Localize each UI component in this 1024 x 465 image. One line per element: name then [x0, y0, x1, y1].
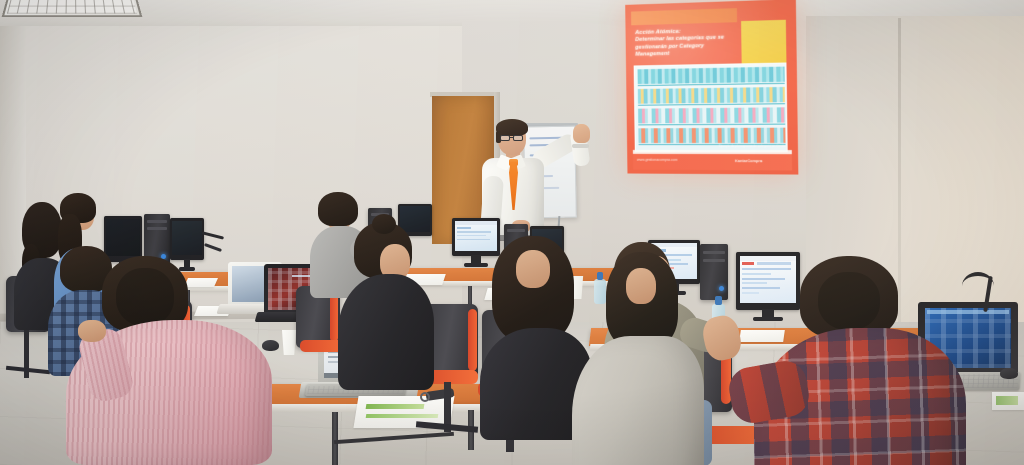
- slide-yellow-block: [741, 20, 786, 64]
- slide-title-text: Acción Atómica: Determinar las categoría…: [635, 27, 738, 63]
- tower-right-1: [700, 244, 728, 300]
- handout-green-graphic: [996, 396, 1018, 405]
- grey-jacket-on-chair: [572, 336, 704, 465]
- slide-planogram-photo: [634, 62, 788, 152]
- head-back: [116, 268, 174, 326]
- head: [516, 250, 550, 288]
- slide-footer-url: www.gestionacompra.com: [637, 158, 678, 162]
- handout-green-bar: [366, 404, 425, 409]
- computer-mouse: [1000, 368, 1018, 379]
- monitor-right-browser: [736, 252, 800, 310]
- head: [626, 268, 656, 304]
- keyring: [420, 392, 430, 402]
- handout-paper: [184, 278, 218, 287]
- eyeglasses-lens-right: [513, 135, 523, 141]
- eyeglasses-icon: [500, 135, 510, 141]
- computer-mouse: [262, 340, 279, 351]
- slide-footer-brand: KantarCompra: [735, 158, 762, 163]
- ceiling-light-panel: [2, 0, 143, 17]
- hair-top-knot: [372, 214, 396, 234]
- hand: [78, 320, 106, 342]
- desk-leg: [332, 412, 338, 465]
- monitor-back-left-1: [104, 216, 142, 262]
- wall-corner-line: [898, 18, 901, 348]
- eyeglasses-bridge: [510, 137, 514, 138]
- handout-green-bar: [366, 414, 439, 418]
- instructor-raised-hand: [573, 124, 590, 143]
- hair: [318, 192, 358, 226]
- head-back: [818, 272, 880, 330]
- torso-black: [338, 274, 434, 390]
- handout-paper: [739, 330, 785, 342]
- projected-slide: Acción Atómica: Determinar las categoría…: [625, 0, 798, 175]
- instructor-cuff: [572, 144, 589, 148]
- slide-footer-bar: [633, 154, 792, 171]
- classroom-photo: Acción Atómica: Determinar las categoría…: [0, 0, 1024, 465]
- monitor-back-left-2: [170, 218, 204, 260]
- slide-photo-caption: Ejemplo de planograma de categoría en ti…: [691, 144, 786, 148]
- monitor-center-spreadsheet: [452, 218, 500, 256]
- water-bottle: [594, 272, 606, 304]
